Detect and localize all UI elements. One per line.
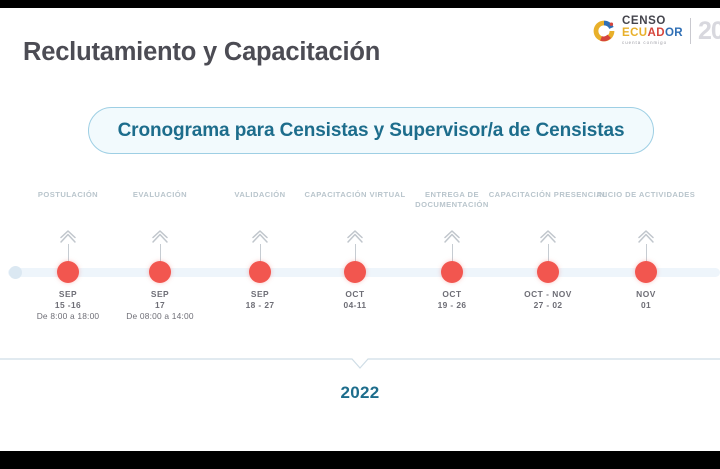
chevron-up-icon: [251, 230, 269, 244]
milestone-dot[interactable]: [441, 261, 463, 283]
milestone-month: NOV: [561, 289, 720, 300]
chevron-up-icon: [151, 230, 169, 244]
chevron-up-icon: [637, 230, 655, 244]
chevron-up-icon: [59, 230, 77, 244]
logo-year-fragment: 20: [698, 17, 720, 46]
censo-logo-icon: [591, 18, 617, 44]
milestone-dot[interactable]: [344, 261, 366, 283]
timeline: POSTULACIÓNSEP15 -16De 8:00 a 18:00EVALU…: [0, 188, 720, 338]
milestone-dot[interactable]: [249, 261, 271, 283]
page-title: Reclutamiento y Capacitación: [23, 38, 380, 67]
milestone-dates: NOV01: [561, 289, 720, 311]
logo-or-part: OR: [665, 27, 683, 39]
milestone-dot[interactable]: [149, 261, 171, 283]
milestone-dot[interactable]: [537, 261, 559, 283]
logo-divider: [690, 18, 691, 44]
year-bracket: [0, 356, 720, 372]
logo-tagline: cuenta conmigo: [622, 41, 683, 45]
chevron-up-icon: [346, 230, 364, 244]
logo-ad-part: AD: [648, 27, 665, 39]
slide-canvas: Reclutamiento y Capacitación CENSO ECUAD…: [0, 8, 720, 451]
letterbox-bottom: [0, 451, 720, 469]
milestone-dot[interactable]: [57, 261, 79, 283]
milestone-label: INICIO DE ACTIVIDADES: [581, 190, 711, 200]
timeline-start-cap: [9, 266, 22, 279]
cronograma-banner-text: Cronograma para Censistas y Supervisor/a…: [118, 120, 625, 142]
chevron-up-icon: [443, 230, 461, 244]
chevron-up-icon: [539, 230, 557, 244]
censo-ecuador-logo: CENSO ECUADOR cuenta conmigo 20: [591, 13, 720, 49]
milestone-days: 01: [561, 300, 720, 311]
logo-ecuador-text: ECUADOR: [622, 28, 683, 40]
letterbox-top: [0, 0, 720, 8]
cronograma-banner: Cronograma para Censistas y Supervisor/a…: [88, 107, 654, 154]
year-label: 2022: [0, 383, 720, 403]
milestone-hours: De 08:00 a 14:00: [75, 311, 245, 322]
video-frame: Reclutamiento y Capacitación CENSO ECUAD…: [0, 0, 720, 469]
milestone-dot[interactable]: [635, 261, 657, 283]
logo-ecu-part: ECU: [622, 27, 647, 39]
logo-wordmark: CENSO ECUADOR cuenta conmigo: [622, 16, 683, 45]
